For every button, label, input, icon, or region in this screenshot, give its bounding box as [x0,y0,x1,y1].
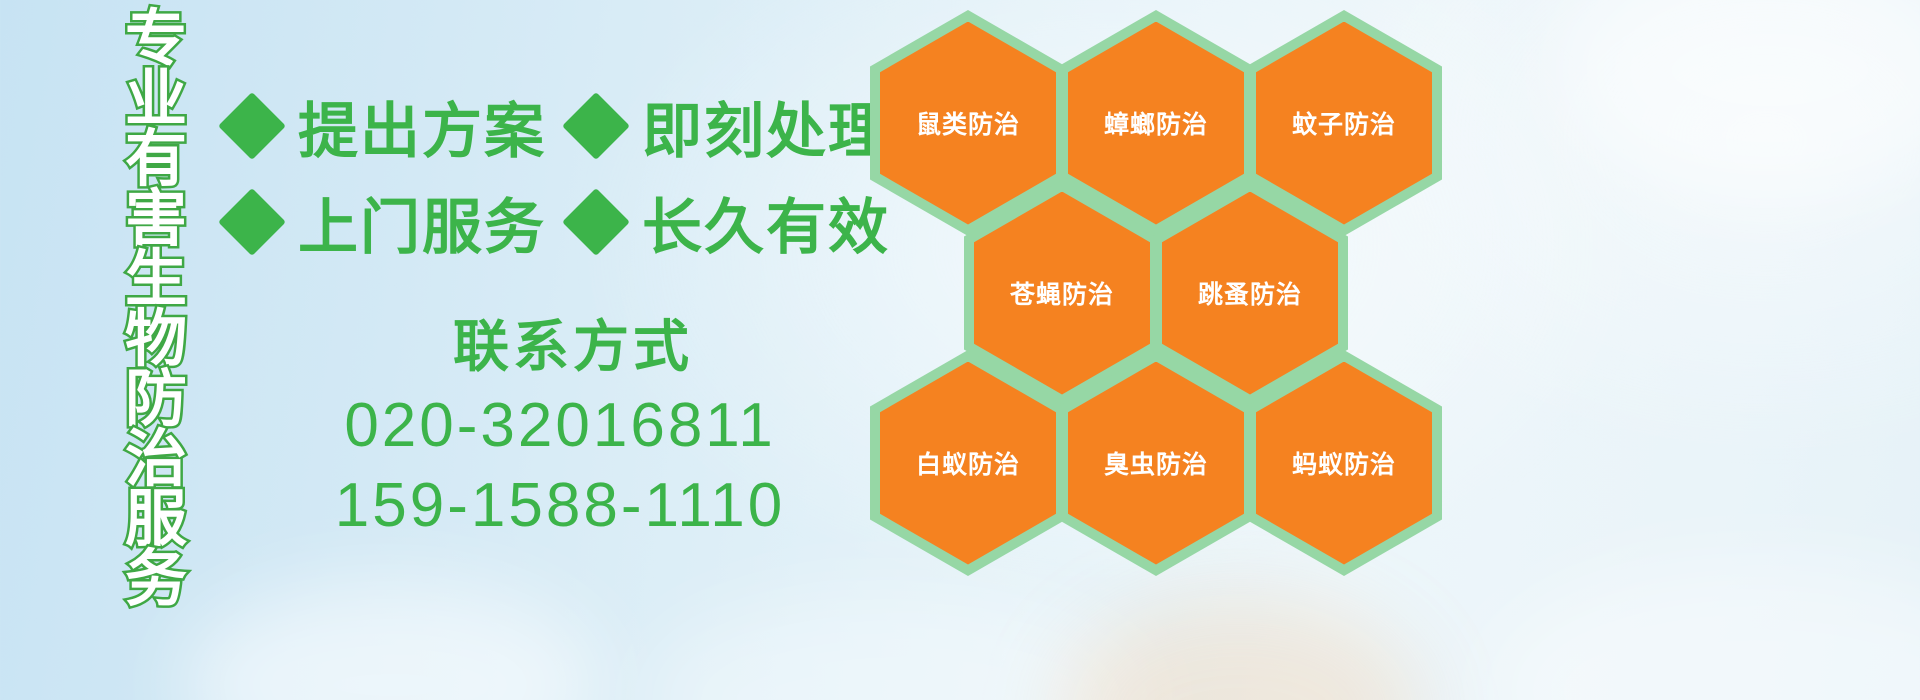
diamond-bullet-icon [218,188,286,256]
banner-root: 专 业 有 害 生 物 防 治 服 务 提出方案 即刻处理 上门服务 长久有效 … [0,0,1920,700]
vertical-headline-char: 有 [125,128,187,190]
background-haze [1560,0,1920,200]
service-hex-label: 臭虫防治 [1104,445,1208,481]
service-hex-label: 蚂蚁防治 [1292,445,1396,481]
hex-inner: 鼠类防治 [880,22,1056,225]
contact-block: 联系方式 020-32016811 159-1588-1110 [300,310,820,546]
feature-bullet-label: 即刻处理 [642,83,890,170]
hex-inner: 蚂蚁防治 [1256,362,1432,565]
vertical-headline-char: 治 [125,428,187,490]
contact-phone-landline[interactable]: 020-32016811 [300,386,820,466]
diamond-bullet-icon [218,92,286,160]
background-haze [180,580,600,700]
contact-title: 联系方式 [326,310,820,386]
vertical-headline-char: 务 [125,548,187,610]
vertical-headline-char: 防 [125,368,187,430]
hex-inner: 跳蚤防治 [1162,192,1338,395]
feature-bullet-label: 长久有效 [642,179,890,266]
vertical-headline-char: 服 [125,488,187,550]
hex-inner: 蟑螂防治 [1068,22,1244,225]
feature-bullets: 提出方案 即刻处理 上门服务 长久有效 [228,78,868,270]
service-hex-label: 蟑螂防治 [1104,105,1208,141]
feature-bullet-row: 上门服务 长久有效 [228,174,868,270]
service-hex-label: 鼠类防治 [916,105,1020,141]
vertical-headline-char: 害 [125,188,187,250]
vertical-headline-char: 生 [125,248,187,310]
service-hex-label: 蚊子防治 [1292,105,1396,141]
diamond-bullet-icon [562,188,630,256]
vertical-headline: 专 业 有 害 生 物 防 治 服 务 [108,8,204,568]
vertical-headline-char: 业 [125,68,187,130]
feature-bullet-label: 上门服务 [298,179,546,266]
hex-inner: 白蚁防治 [880,362,1056,565]
hex-inner: 蚊子防治 [1256,22,1432,225]
service-hex-grid: 鼠类防治 蟑螂防治 蚊子防治 苍蝇防治 跳蚤防治 白蚁防治 [860,0,1460,700]
service-hex-label: 跳蚤防治 [1198,275,1302,311]
service-hex-label: 白蚁防治 [916,445,1020,481]
feature-bullet-label: 提出方案 [298,83,546,170]
vertical-headline-char: 专 [125,8,187,70]
background-haze [1480,560,1920,700]
hex-inner: 臭虫防治 [1068,362,1244,565]
vertical-headline-char: 物 [125,308,187,370]
diamond-bullet-icon [562,92,630,160]
feature-bullet-row: 提出方案 即刻处理 [228,78,868,174]
service-hex-label: 苍蝇防治 [1010,275,1114,311]
hex-inner: 苍蝇防治 [974,192,1150,395]
contact-phone-mobile[interactable]: 159-1588-1110 [300,466,820,546]
